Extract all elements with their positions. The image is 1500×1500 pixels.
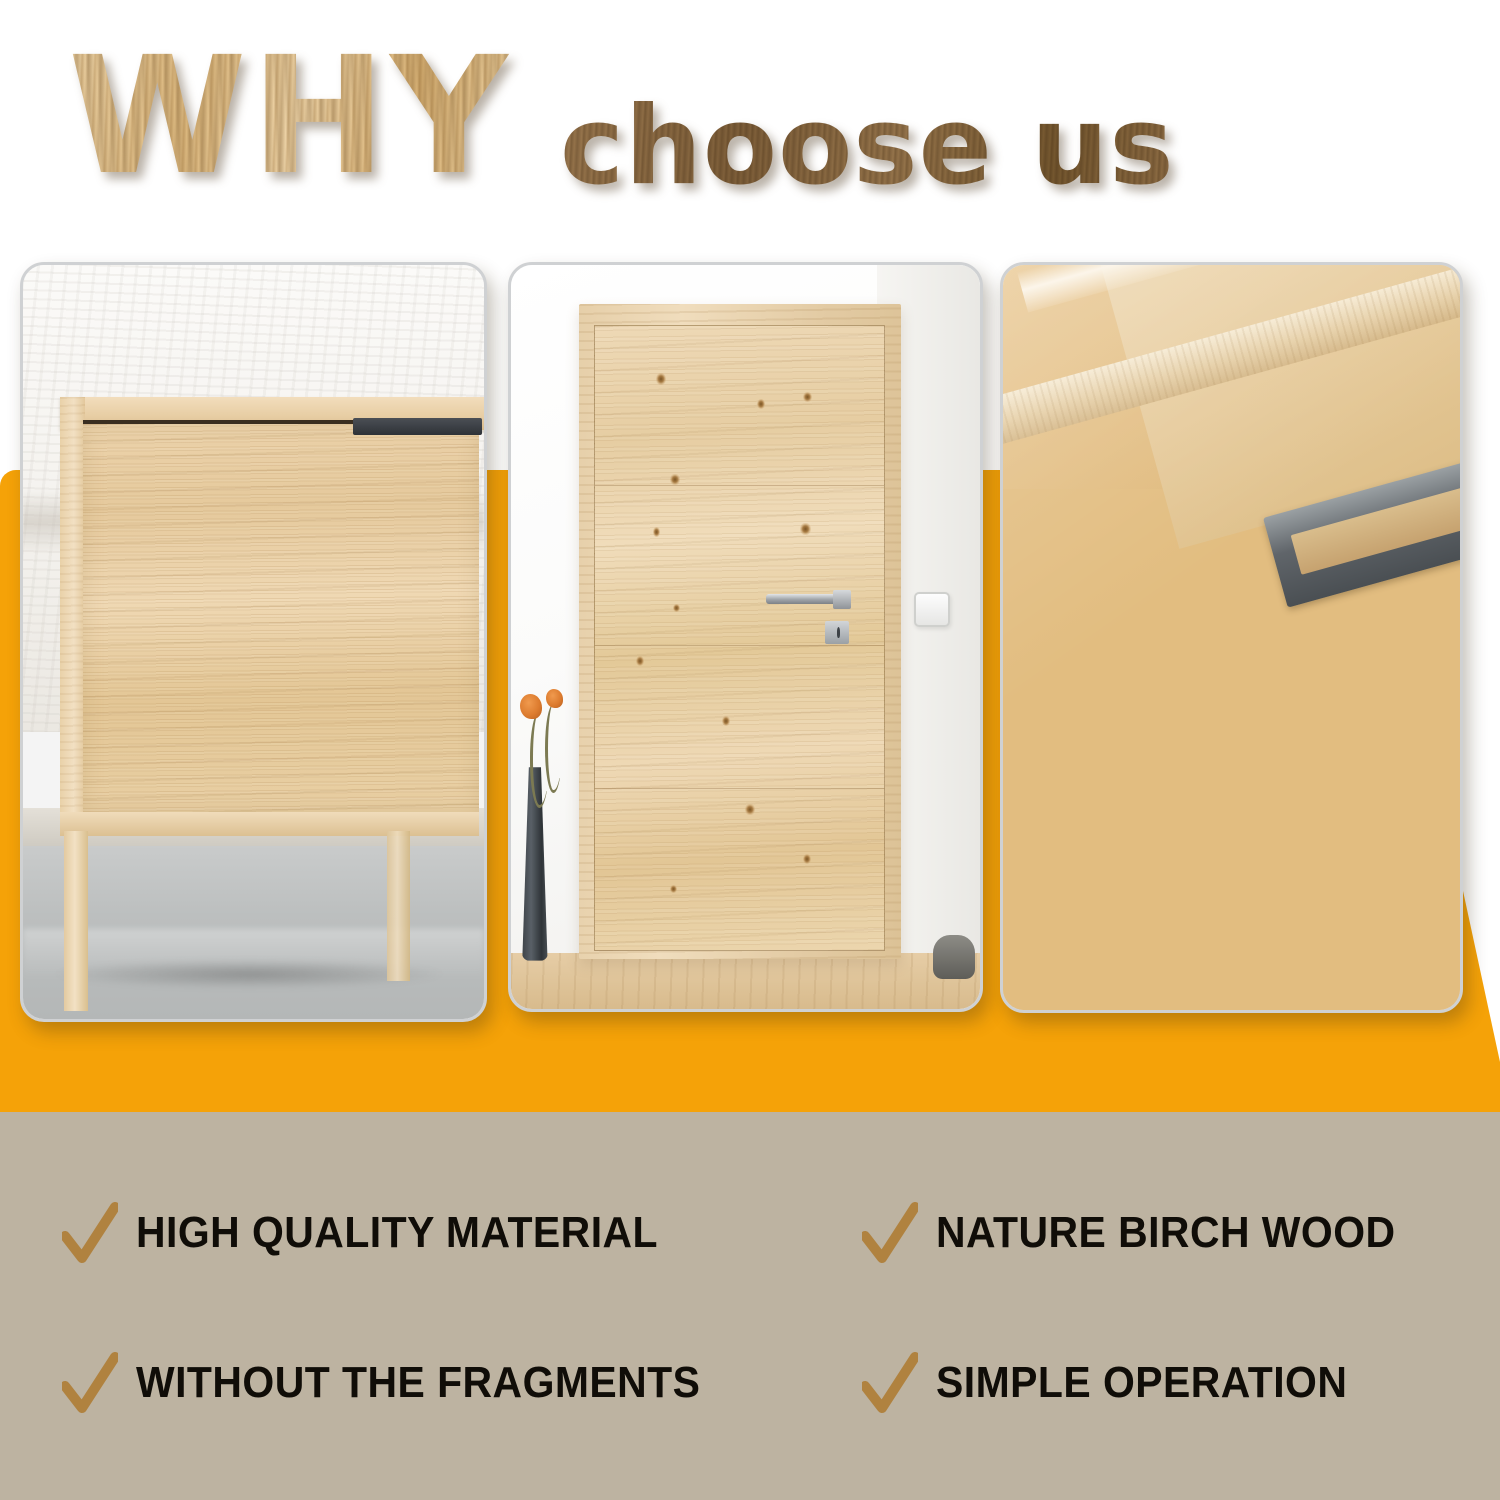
header: WHY choose us	[0, 0, 1500, 240]
page-title-primary: WHY	[68, 36, 512, 198]
benefit-item: HIGH QUALITY MATERIAL	[62, 1202, 697, 1264]
door-lever-handle	[766, 594, 843, 604]
check-icon	[862, 1202, 918, 1264]
photo-oak-door	[511, 265, 980, 1009]
stool	[933, 935, 975, 980]
benefit-label: WITHOUT THE FRAGMENTS	[136, 1358, 700, 1408]
page-title-secondary: choose us	[560, 93, 1175, 201]
photo-drawer-macro	[1003, 265, 1460, 1010]
photo-card-birch-cabinet[interactable]	[20, 262, 487, 1022]
check-icon	[62, 1202, 118, 1264]
benefit-item: NATURE BIRCH WOOD	[862, 1202, 1430, 1264]
benefit-label: HIGH QUALITY MATERIAL	[136, 1208, 658, 1258]
check-icon	[62, 1352, 118, 1414]
photo-card-drawer-macro[interactable]	[1000, 262, 1463, 1013]
light-switch	[914, 592, 949, 626]
cabinet-bar-handle	[353, 418, 482, 435]
check-icon	[862, 1352, 918, 1414]
poppy-flower	[520, 694, 542, 719]
benefits-bar: HIGH QUALITY MATERIAL NATURE BIRCH WOOD …	[0, 1112, 1500, 1500]
door-lock	[825, 621, 849, 645]
photo-card-oak-door[interactable]	[508, 262, 983, 1012]
benefit-item: WITHOUT THE FRAGMENTS	[62, 1352, 743, 1414]
photo-birch-cabinet	[23, 265, 484, 1019]
poppy-flower	[546, 689, 563, 708]
benefit-label: SIMPLE OPERATION	[936, 1358, 1347, 1408]
benefit-label: NATURE BIRCH WOOD	[936, 1208, 1396, 1258]
benefit-item: SIMPLE OPERATION	[862, 1352, 1378, 1414]
